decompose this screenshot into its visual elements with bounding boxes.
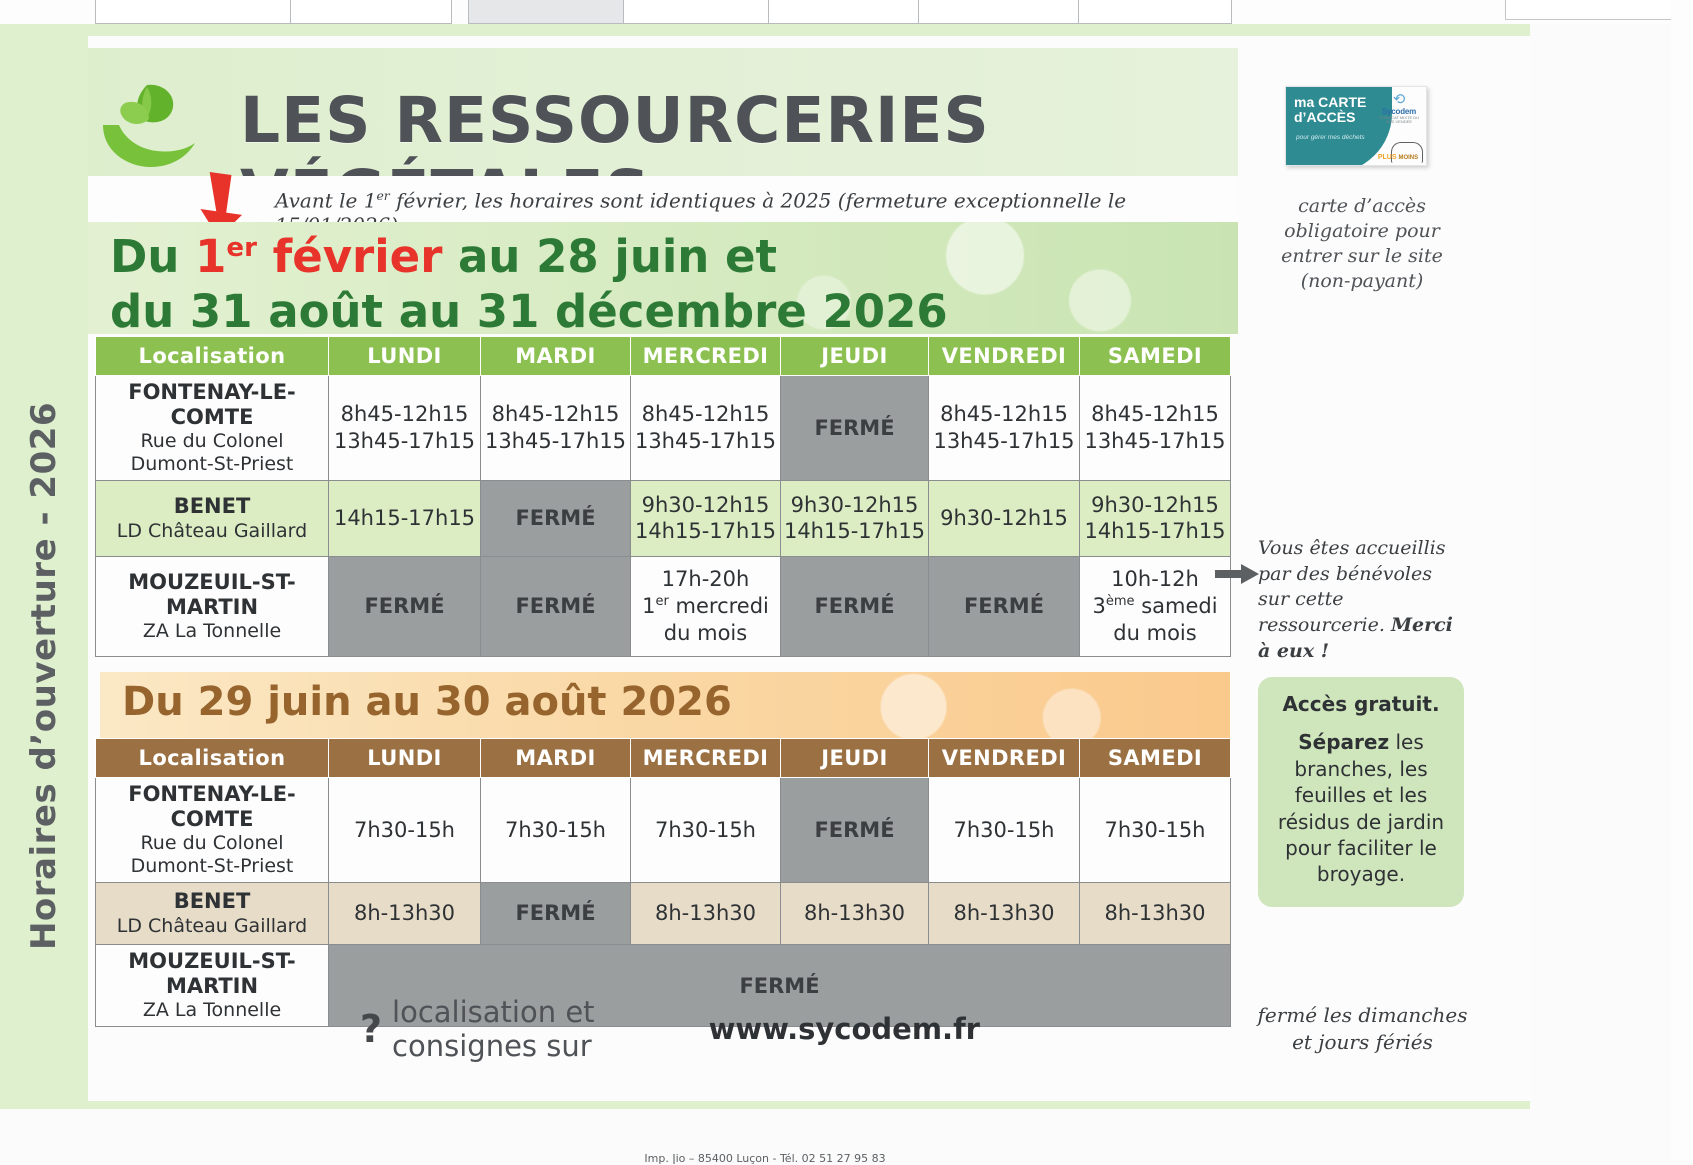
col-header-jeudi: JEUDI	[781, 739, 929, 778]
footer-info: ? localisation et consignes sur www.syco…	[360, 1009, 980, 1049]
season1-title-line2: du 31 août au 31 décembre 2026	[110, 285, 948, 338]
hours-cell: 7h30-15h	[481, 778, 631, 883]
scanned-page-right-edge	[1671, 0, 1693, 1160]
schedule-table-season1: Localisation LUNDI MARDI MERCREDI JEUDI …	[95, 336, 1231, 657]
footer-text: localisation et consignes sur	[392, 995, 699, 1063]
question-mark-icon: ?	[360, 1010, 382, 1048]
col-header-samedi: SAMEDI	[1080, 739, 1231, 778]
season1-title-1: 1	[195, 230, 226, 283]
info-box-body: Séparez les branches, les feuilles et le…	[1278, 730, 1444, 886]
site-cell-mouzeuil: MOUZEUIL-ST-MARTIN ZA La Tonnelle	[96, 556, 329, 656]
scan-cell	[918, 0, 1080, 24]
table-row: FONTENAY-LE-COMTE Rue du Colonel Dumont-…	[96, 376, 1231, 481]
hours-cell: 7h30-15h	[929, 778, 1080, 883]
scan-cell	[1505, 0, 1677, 20]
closed-days-note: fermé les dimanches et jours fériés	[1255, 1002, 1470, 1056]
hours-cell: 14h15-17h15	[329, 480, 481, 556]
notice-text-before: Avant le 1	[275, 189, 376, 213]
col-header-mardi: MARDI	[481, 739, 631, 778]
hours-cell: 8h-13h30	[1080, 882, 1231, 944]
access-card-tagline: pour gérer mes déchets	[1296, 134, 1365, 141]
season1-title-fevrier: février	[257, 230, 442, 283]
col-header-vendredi: VENDREDI	[929, 337, 1080, 376]
slogan-moins-text: MOINS	[1398, 155, 1418, 161]
hours-cell: 8h45-12h1513h45-17h15	[329, 376, 481, 481]
access-card-title-acces: d’ACCÈS	[1294, 109, 1355, 125]
season1-title-er: er	[226, 233, 257, 263]
swirl-icon: ⟲	[1376, 92, 1422, 107]
sycodem-subtitle: SYNDICAT MIXTE DU SUD VENDÉE	[1376, 116, 1422, 125]
table-header-row: Localisation LUNDI MARDI MERCREDI JEUDI …	[96, 337, 1231, 376]
poster-background: Horaires d’ouverture - 2026 LES RESSOURC…	[0, 24, 1530, 1109]
closed-cell: FERMÉ	[781, 556, 929, 656]
website-link[interactable]: www.sycodem.fr	[709, 1012, 980, 1046]
scan-cell	[1078, 0, 1232, 24]
hours-cell: 8h-13h30	[631, 882, 781, 944]
access-card-title: ma CARTE d’ACCÈS	[1294, 95, 1366, 124]
season1-title-rest: au 28 juin et	[442, 230, 777, 283]
hours-cell: 8h-13h30	[329, 882, 481, 944]
site-cell-fontenay: FONTENAY-LE-COMTE Rue du Colonel Dumont-…	[96, 778, 329, 883]
page-title: LES RESSOURCERIES VÉGÉTALES	[240, 84, 1240, 164]
site-address-line1: ZA La Tonnelle	[98, 999, 326, 1022]
closed-cell: FERMÉ	[481, 556, 631, 656]
vertical-page-title-text: Horaires d’ouverture - 2026	[24, 402, 64, 950]
access-card-image: ma CARTE d’ACCÈS pour gérer mes déchets …	[1285, 86, 1427, 166]
closed-days-line2: et jours fériés	[1292, 1030, 1433, 1054]
free-access-info-box: Accès gratuit. Séparez les branches, les…	[1258, 677, 1464, 907]
table-row: BENET LD Château Gaillard 14h15-17h15 FE…	[96, 480, 1231, 556]
hours-cell: 17h-20h1er mercredidu mois	[631, 556, 781, 656]
col-header-jeudi: JEUDI	[781, 337, 929, 376]
scanned-page-top-edge	[0, 0, 1693, 24]
table-row: BENET LD Château Gaillard 8h-13h30 FERMÉ…	[96, 882, 1231, 944]
closed-cell: FERMÉ	[929, 556, 1080, 656]
site-name: FONTENAY-LE-COMTE	[98, 782, 326, 832]
hours-cell: 8h45-12h1513h45-17h15	[929, 376, 1080, 481]
closed-cell: FERMÉ	[481, 882, 631, 944]
hours-cell: 8h45-12h1513h45-17h15	[481, 376, 631, 481]
site-address-line1: Rue du Colonel	[98, 430, 326, 453]
hours-cell: 8h-13h30	[929, 882, 1080, 944]
col-header-localisation: Localisation	[96, 739, 329, 778]
hours-cell: 7h30-15h	[631, 778, 781, 883]
site-address-line1: ZA La Tonnelle	[98, 620, 326, 643]
site-address-line2: Dumont-St-Priest	[98, 855, 326, 878]
scan-cell	[768, 0, 920, 24]
table-row: MOUZEUIL-ST-MARTIN ZA La Tonnelle FERMÉ …	[96, 556, 1231, 656]
closed-cell: FERMÉ	[781, 376, 929, 481]
closed-days-line1: fermé les dimanches	[1258, 1003, 1468, 1027]
grey-right-arrow-icon	[1215, 564, 1259, 584]
scan-cell	[623, 0, 770, 24]
hours-cell: 9h30-12h1514h15-17h15	[631, 480, 781, 556]
access-card-title-prefix: ma	[1294, 94, 1318, 110]
table-row: FONTENAY-LE-COMTE Rue du Colonel Dumont-…	[96, 778, 1231, 883]
tri-plus-slogan: PLUS MOINS	[1374, 154, 1422, 161]
hours-cell: 9h30-12h1514h15-17h15	[1080, 480, 1231, 556]
site-address-line1: Rue du Colonel	[98, 832, 326, 855]
col-header-mercredi: MERCREDI	[631, 337, 781, 376]
col-header-localisation: Localisation	[96, 337, 329, 376]
site-name: BENET	[98, 889, 326, 914]
hours-cell: 9h30-12h1514h15-17h15	[781, 480, 929, 556]
hours-cell: 10h-12h3ème samedidu mois	[1080, 556, 1231, 656]
table-header-row: Localisation LUNDI MARDI MERCREDI JEUDI …	[96, 739, 1231, 778]
schedule-table-season2: Localisation LUNDI MARDI MERCREDI JEUDI …	[95, 738, 1231, 1027]
col-header-mercredi: MERCREDI	[631, 739, 781, 778]
season1-title-highlight: 1er février	[195, 230, 442, 283]
scan-cell	[95, 0, 292, 24]
site-cell-mouzeuil: MOUZEUIL-ST-MARTIN ZA La Tonnelle	[96, 944, 329, 1026]
site-name: MOUZEUIL-ST-MARTIN	[98, 949, 326, 999]
hours-cell: 8h45-12h1513h45-17h15	[631, 376, 781, 481]
closed-cell: FERMÉ	[329, 556, 481, 656]
col-header-mardi: MARDI	[481, 337, 631, 376]
site-address-line1: LD Château Gaillard	[98, 915, 326, 938]
access-card-note: carte d’accès obligatoire pour entrer su…	[1272, 194, 1452, 294]
slogan-plus-text: PLUS	[1378, 154, 1397, 161]
hours-cell: 7h30-15h	[1080, 778, 1231, 883]
vertical-page-title: Horaires d’ouverture - 2026	[12, 376, 76, 976]
hours-cell: 8h45-12h1513h45-17h15	[1080, 376, 1231, 481]
scan-cell	[468, 0, 625, 24]
scan-cell	[290, 0, 452, 24]
site-address-line1: LD Château Gaillard	[98, 520, 326, 543]
info-box-title: Accès gratuit.	[1270, 691, 1452, 717]
season2-title: Du 29 juin au 30 août 2026	[122, 679, 822, 725]
col-header-lundi: LUNDI	[329, 739, 481, 778]
site-name: FONTENAY-LE-COMTE	[98, 380, 326, 430]
closed-cell: FERMÉ	[781, 778, 929, 883]
col-header-vendredi: VENDREDI	[929, 739, 1080, 778]
volunteers-note: Vous êtes accueillis par des bénévoles s…	[1258, 536, 1458, 664]
access-card-title-carte: CARTE	[1318, 94, 1366, 110]
hours-cell: 7h30-15h	[329, 778, 481, 883]
site-address-line2: Dumont-St-Priest	[98, 453, 326, 476]
col-header-samedi: SAMEDI	[1080, 337, 1231, 376]
site-name: BENET	[98, 494, 326, 519]
site-name: MOUZEUIL-ST-MARTIN	[98, 570, 326, 620]
col-header-lundi: LUNDI	[329, 337, 481, 376]
season1-title-du: Du	[110, 230, 195, 283]
hours-cell: 8h-13h30	[781, 882, 929, 944]
season1-title: Du 1er février au 28 juin et du 31 août …	[110, 230, 1070, 340]
closed-cell: FERMÉ	[481, 480, 631, 556]
leaf-in-hand-icon	[95, 79, 200, 174]
notice-text-sup: er	[376, 188, 389, 203]
hours-cell: 9h30-12h15	[929, 480, 1080, 556]
site-cell-benet: BENET LD Château Gaillard	[96, 480, 329, 556]
info-box-bold-word: Séparez	[1298, 730, 1389, 754]
site-cell-benet: BENET LD Château Gaillard	[96, 882, 329, 944]
printer-imprint: Imp. ǀio – 85400 Luçon - Tél. 02 51 27 9…	[0, 1152, 1530, 1165]
site-cell-fontenay: FONTENAY-LE-COMTE Rue du Colonel Dumont-…	[96, 376, 329, 481]
sycodem-logo: ⟲ Sycodem SYNDICAT MIXTE DU SUD VENDÉE	[1376, 92, 1422, 125]
volunteers-note-line3: ressourcerie.	[1258, 614, 1391, 636]
